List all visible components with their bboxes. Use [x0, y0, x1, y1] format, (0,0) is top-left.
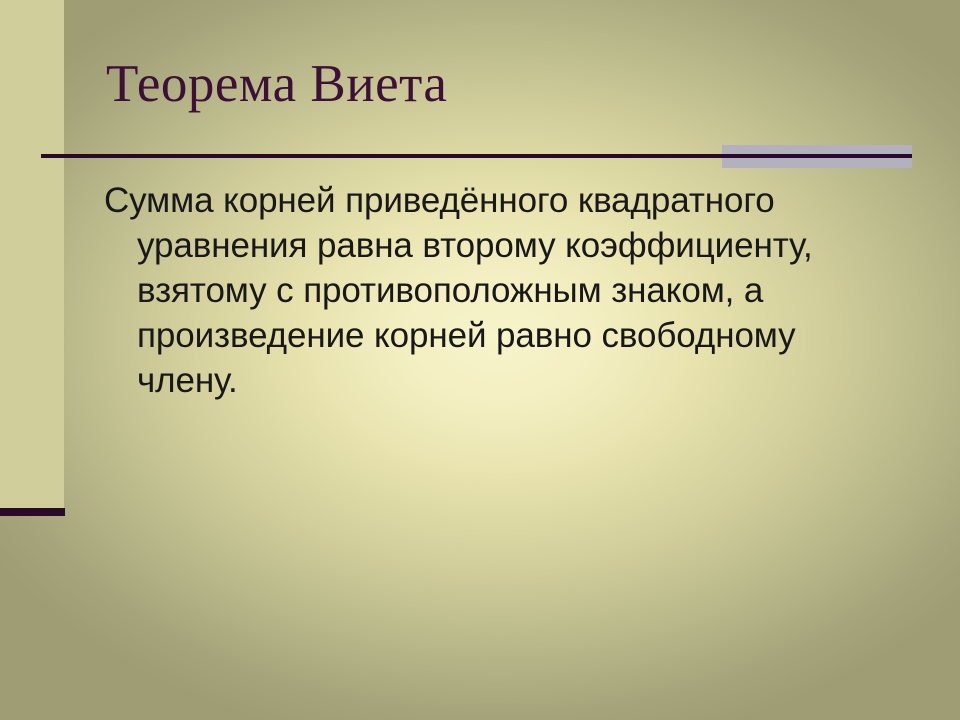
slide-title: Теорема Виета: [106, 55, 906, 113]
body-line: произведение корней равно свободному: [104, 313, 894, 358]
slide-body: Сумма корней приведённого квадратного ур…: [104, 178, 894, 403]
title-divider-rule: [41, 154, 912, 158]
body-line: Сумма корней приведённого квадратного: [104, 178, 894, 223]
body-line: взятому с противоположным знаком, а: [104, 268, 894, 313]
band-accent-bar: [0, 508, 65, 516]
body-line: уравнения равна второму коэффициенту,: [104, 223, 894, 268]
slide-canvas: Теорема Виета Сумма корней приведённого …: [0, 0, 960, 720]
left-decorative-band: [0, 0, 64, 513]
body-line: члену.: [104, 358, 894, 403]
